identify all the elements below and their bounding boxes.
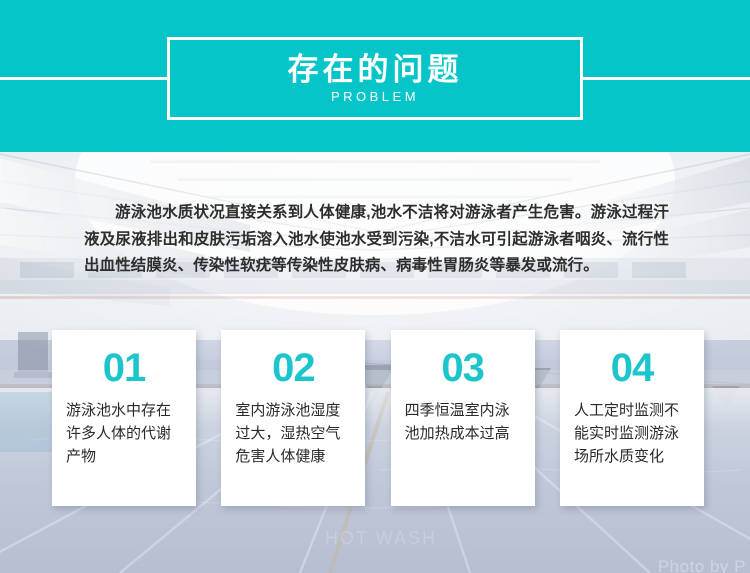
card-description: 人工定时监测不能实时监测游泳场所水质变化	[574, 400, 690, 468]
page-root: HOT WASH Photo by P 存在的问题 PROBLEM 游泳池水质状…	[0, 0, 750, 573]
card-description: 室内游泳池湿度过大，湿热空气危害人体健康	[235, 400, 351, 468]
title-box: 存在的问题 PROBLEM	[167, 37, 583, 120]
header-rule-left	[0, 77, 167, 80]
card-description: 游泳池水中存在许多人体的代谢产物	[66, 400, 182, 468]
page-subtitle: PROBLEM	[331, 90, 419, 103]
header-band: 存在的问题 PROBLEM	[0, 0, 750, 152]
card-number: 03	[405, 348, 521, 388]
page-title: 存在的问题	[288, 54, 463, 87]
problem-card-04: 04 人工定时监测不能实时监测游泳场所水质变化	[560, 330, 704, 506]
card-number: 01	[66, 348, 182, 388]
card-description: 四季恒温室内泳池加热成本过高	[405, 400, 521, 446]
card-number: 02	[235, 348, 351, 388]
card-number: 04	[574, 348, 690, 388]
problem-card-01: 01 游泳池水中存在许多人体的代谢产物	[52, 330, 196, 506]
problem-card-02: 02 室内游泳池湿度过大，湿热空气危害人体健康	[221, 330, 365, 506]
intro-paragraph: 游泳池水质状况直接关系到人体健康,池水不洁将对游泳者产生危害。游泳过程汗液及尿液…	[84, 200, 669, 280]
problem-card-list: 01 游泳池水中存在许多人体的代谢产物 02 室内游泳池湿度过大，湿热空气危害人…	[52, 330, 704, 506]
header-rule-right	[583, 77, 750, 80]
problem-card-03: 03 四季恒温室内泳池加热成本过高	[391, 330, 535, 506]
